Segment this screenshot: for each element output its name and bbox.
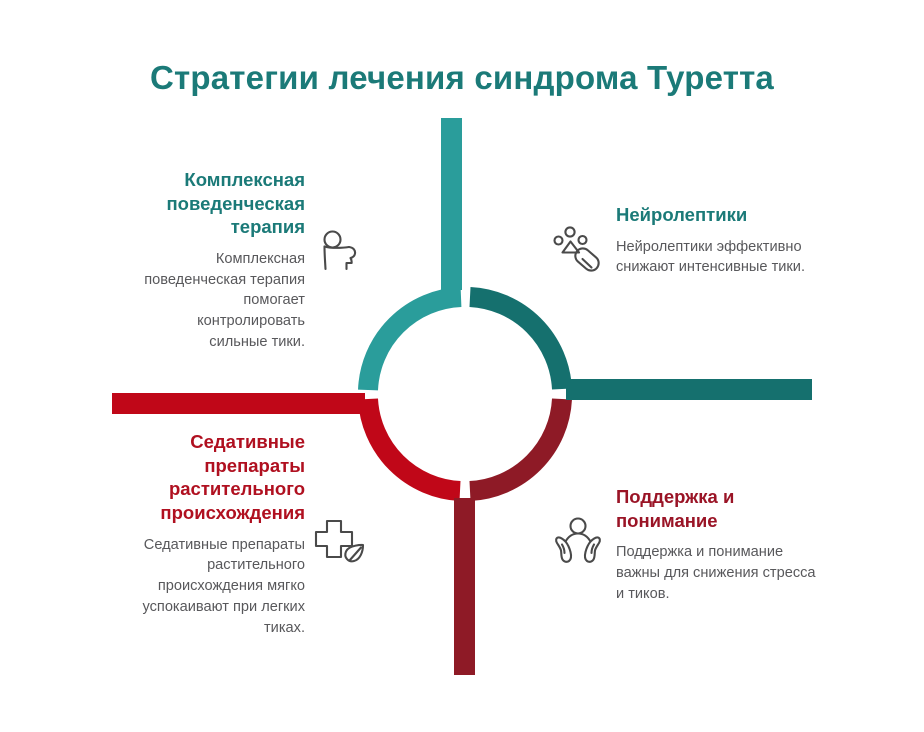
- medical-cross-leaf-icon: [313, 518, 368, 568]
- arc-bottom-right-support: [470, 399, 562, 491]
- arc-top-right-neuroleptics: [470, 297, 562, 389]
- infographic-canvas: Стратегии лечения синдрома Туретта Компл…: [0, 0, 924, 732]
- section-support-body: Поддержка и понимание важны для снижения…: [616, 542, 826, 604]
- section-sedatives-body: Седативные препараты растительного проис…: [140, 535, 305, 639]
- stem-left: [112, 393, 365, 414]
- section-neuroleptics-heading: Нейролептики: [616, 203, 816, 227]
- arc-top-left-behavioral: [368, 297, 461, 390]
- section-support-heading: Поддержка и понимание: [616, 485, 826, 532]
- page-title: Стратегии лечения синдрома Туретта: [0, 58, 924, 98]
- stem-right: [566, 379, 812, 400]
- section-neuroleptics: Нейролептики Нейролептики эффективно сни…: [616, 203, 816, 278]
- section-neuroleptics-body: Нейролептики эффективно снижают интенсив…: [616, 237, 816, 278]
- section-support: Поддержка и понимание Поддержка и понима…: [616, 485, 826, 605]
- arc-bottom-left-sedatives: [368, 399, 460, 491]
- section-behavioral-heading: Комплексная поведенческая терапия: [140, 168, 305, 239]
- pills-icon: [552, 226, 602, 276]
- section-behavioral: Комплексная поведенческая терапия Компле…: [140, 168, 305, 353]
- section-sedatives: Седативные препараты растительного проис…: [140, 430, 305, 638]
- central-wheel-diagram: [0, 0, 924, 732]
- supporting-hands-icon: [553, 517, 603, 565]
- section-sedatives-heading: Седативные препараты растительного проис…: [140, 430, 305, 525]
- section-behavioral-body: Комплексная поведенческая терапия помога…: [140, 249, 305, 353]
- person-head-icon: [313, 228, 361, 276]
- stem-bottom: [454, 498, 475, 675]
- stem-top: [441, 118, 462, 290]
